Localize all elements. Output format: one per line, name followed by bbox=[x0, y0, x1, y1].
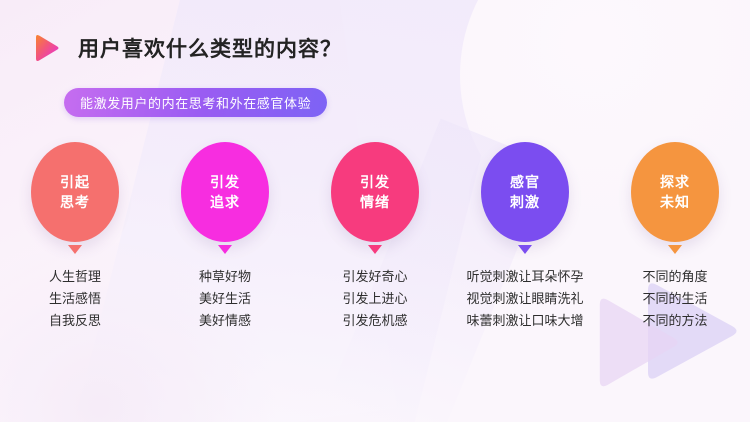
bubble-pointer-icon bbox=[518, 245, 532, 254]
bubble-wrapper: 引起 思考 bbox=[27, 142, 123, 254]
bubble-pointer-icon bbox=[668, 245, 682, 254]
category-columns: 引起 思考 人生哲理 生活感悟 自我反思 引发 追求 种草好物 bbox=[0, 142, 750, 331]
page-title: 用户喜欢什么类型的内容？ bbox=[78, 33, 342, 63]
category-bubble[interactable]: 引发 情绪 bbox=[331, 142, 419, 242]
bubble-label-line1: 探求 bbox=[660, 172, 690, 192]
list-item: 美好生活 bbox=[199, 289, 251, 309]
list-item: 引发危机感 bbox=[342, 311, 407, 331]
list-item: 不同的角度 bbox=[642, 267, 707, 287]
bubble-wrapper: 引发 追求 bbox=[177, 142, 273, 254]
list-item: 引发好奇心 bbox=[342, 267, 407, 287]
bubble-label-line2: 未知 bbox=[660, 192, 690, 212]
subtitle-text: 能激发用户的内在思考和外在感官体验 bbox=[80, 93, 311, 112]
bubble-label-line2: 思考 bbox=[60, 192, 90, 212]
category-column: 感官 刺激 听觉刺激让耳朵怀孕 视觉刺激让眼睛洗礼 味蕾刺激让口味大增 bbox=[450, 142, 600, 331]
bubble-pointer-icon bbox=[68, 245, 82, 254]
category-column: 引发 情绪 引发好奇心 引发上进心 引发危机感 bbox=[300, 142, 450, 331]
list-item: 生活感悟 bbox=[49, 289, 101, 309]
item-list: 人生哲理 生活感悟 自我反思 bbox=[49, 267, 101, 331]
bubble-label-line1: 感官 bbox=[510, 172, 540, 192]
bubble-pointer-icon bbox=[218, 245, 232, 254]
item-list: 引发好奇心 引发上进心 引发危机感 bbox=[342, 267, 407, 331]
bubble-label-line1: 引起 bbox=[60, 172, 90, 192]
bubble-label-line1: 引发 bbox=[210, 172, 240, 192]
list-item: 自我反思 bbox=[49, 311, 101, 331]
category-bubble[interactable]: 探求 未知 bbox=[631, 142, 719, 242]
slide-canvas: 用户喜欢什么类型的内容？ 能激发用户的内在思考和外在感官体验 引起 思考 人生哲… bbox=[0, 0, 750, 422]
list-item: 味蕾刺激让口味大增 bbox=[466, 311, 583, 331]
bubble-wrapper: 感官 刺激 bbox=[477, 142, 573, 254]
bubble-label-line2: 刺激 bbox=[510, 192, 540, 212]
bubble-label-line1: 引发 bbox=[360, 172, 390, 192]
play-triangle-icon bbox=[30, 32, 62, 64]
slide-header: 用户喜欢什么类型的内容？ bbox=[30, 32, 342, 64]
list-item: 引发上进心 bbox=[342, 289, 407, 309]
category-bubble[interactable]: 引发 追求 bbox=[181, 142, 269, 242]
category-bubble[interactable]: 引起 思考 bbox=[31, 142, 119, 242]
bubble-wrapper: 探求 未知 bbox=[627, 142, 723, 254]
category-bubble[interactable]: 感官 刺激 bbox=[481, 142, 569, 242]
bubble-label-line2: 情绪 bbox=[360, 192, 390, 212]
list-item: 种草好物 bbox=[199, 267, 251, 287]
item-list: 种草好物 美好生活 美好情感 bbox=[199, 267, 251, 331]
bubble-pointer-icon bbox=[368, 245, 382, 254]
item-list: 听觉刺激让耳朵怀孕 视觉刺激让眼睛洗礼 味蕾刺激让口味大增 bbox=[466, 267, 583, 331]
list-item: 人生哲理 bbox=[49, 267, 101, 287]
list-item: 美好情感 bbox=[199, 311, 251, 331]
subtitle-badge: 能激发用户的内在思考和外在感官体验 bbox=[64, 88, 327, 117]
category-column: 探求 未知 不同的角度 不同的生活 不同的方法 bbox=[600, 142, 750, 331]
category-column: 引起 思考 人生哲理 生活感悟 自我反思 bbox=[0, 142, 150, 331]
list-item: 听觉刺激让耳朵怀孕 bbox=[466, 267, 583, 287]
item-list: 不同的角度 不同的生活 不同的方法 bbox=[642, 267, 707, 331]
category-column: 引发 追求 种草好物 美好生活 美好情感 bbox=[150, 142, 300, 331]
list-item: 不同的生活 bbox=[642, 289, 707, 309]
bubble-wrapper: 引发 情绪 bbox=[327, 142, 423, 254]
list-item: 不同的方法 bbox=[642, 311, 707, 331]
bubble-label-line2: 追求 bbox=[210, 192, 240, 212]
list-item: 视觉刺激让眼睛洗礼 bbox=[466, 289, 583, 309]
